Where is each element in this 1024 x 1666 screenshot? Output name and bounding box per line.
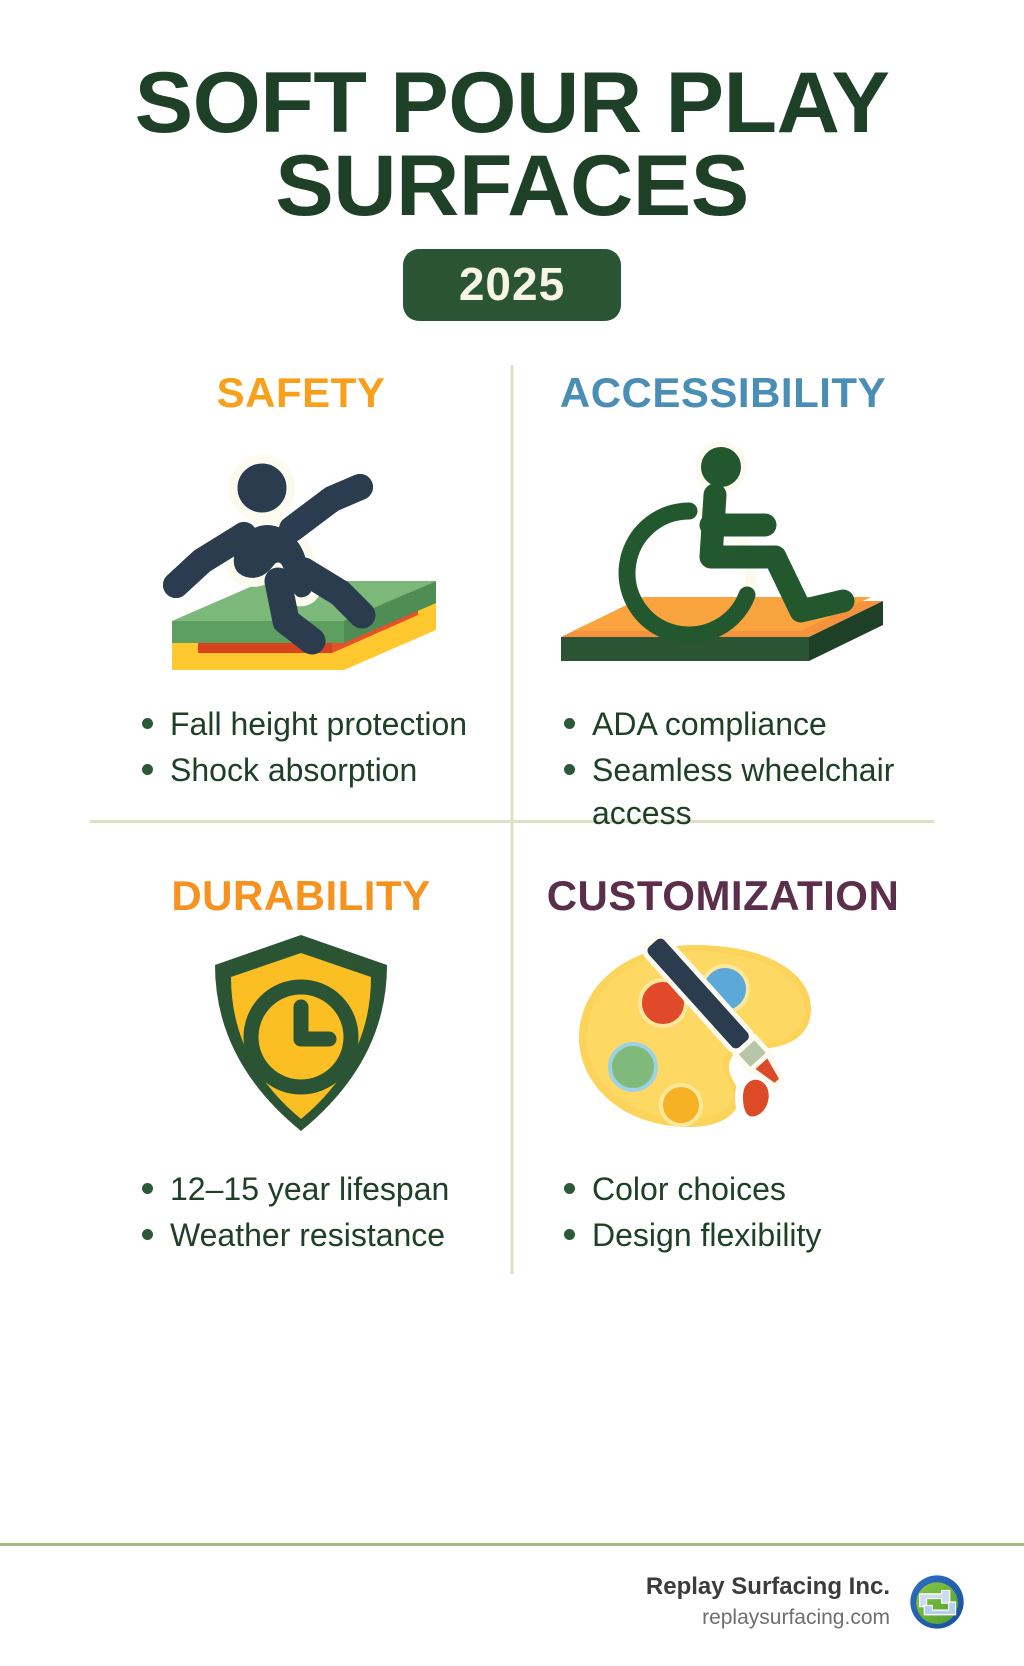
list-item: 12–15 year lifespan	[136, 1168, 449, 1210]
year-badge: 2025	[403, 249, 621, 321]
year-badge-container: 2025	[0, 249, 1024, 321]
website-url[interactable]: replaysurfacing.com	[646, 1604, 890, 1632]
customization-bullet-list: Color choices Design flexibility	[558, 1168, 821, 1260]
list-item: Seamless wheelchair access	[558, 749, 916, 833]
safety-icon-area	[108, 417, 494, 685]
list-item: Color choices	[558, 1168, 821, 1210]
poster-footer: Replay Surfacing Inc. replaysurfacing.co…	[0, 1543, 1024, 1666]
infographic-poster: SOFT POUR PLAYSURFACES 2025 SAFETY	[0, 0, 1024, 1666]
shield-clock-icon	[201, 927, 401, 1142]
recycle-globe-logo	[908, 1573, 966, 1631]
quadrant-heading-safety: SAFETY	[217, 369, 386, 417]
quadrant-accessibility: ACCESSIBILITY	[512, 357, 934, 860]
list-item: Shock absorption	[136, 749, 467, 791]
quadrant-safety: SAFETY	[90, 357, 512, 860]
company-name: Replay Surfacing Inc.	[646, 1572, 890, 1602]
safety-bullet-list: Fall height protection Shock absorption	[136, 703, 467, 795]
customization-icon-area	[530, 920, 916, 1150]
wheelchair-on-mat-icon	[543, 425, 903, 685]
accessibility-icon-area	[530, 417, 916, 685]
list-item: ADA compliance	[558, 703, 916, 745]
feature-grid: SAFETY	[90, 357, 934, 1282]
quadrant-customization: CUSTOMIZATION	[512, 860, 934, 1282]
durability-bullet-list: 12–15 year lifespan Weather resistance	[136, 1168, 449, 1260]
layout-spacer	[0, 1282, 1024, 1542]
poster-header: SOFT POUR PLAYSURFACES 2025	[0, 0, 1024, 321]
paint-palette-icon	[563, 927, 883, 1142]
page-title: SOFT POUR PLAYSURFACES	[31, 62, 994, 227]
list-item: Weather resistance	[136, 1214, 449, 1256]
title-line-1: SOFT POUR PLAY	[135, 55, 890, 151]
durability-icon-area	[108, 920, 494, 1150]
quadrant-heading-customization: CUSTOMIZATION	[547, 872, 900, 920]
list-item: Design flexibility	[558, 1214, 821, 1256]
accessibility-bullet-list: ADA compliance Seamless wheelchair acces…	[558, 703, 916, 838]
quadrant-durability: DURABILITY 12–15 year lifespan Weather r…	[90, 860, 512, 1282]
quadrant-heading-accessibility: ACCESSIBILITY	[560, 369, 886, 417]
quadrant-heading-durability: DURABILITY	[171, 872, 430, 920]
title-line-2: SURFACES	[31, 145, 994, 228]
footer-text-block: Replay Surfacing Inc. replaysurfacing.co…	[646, 1572, 890, 1632]
list-item: Fall height protection	[136, 703, 467, 745]
falling-person-on-mat-icon	[136, 425, 466, 685]
